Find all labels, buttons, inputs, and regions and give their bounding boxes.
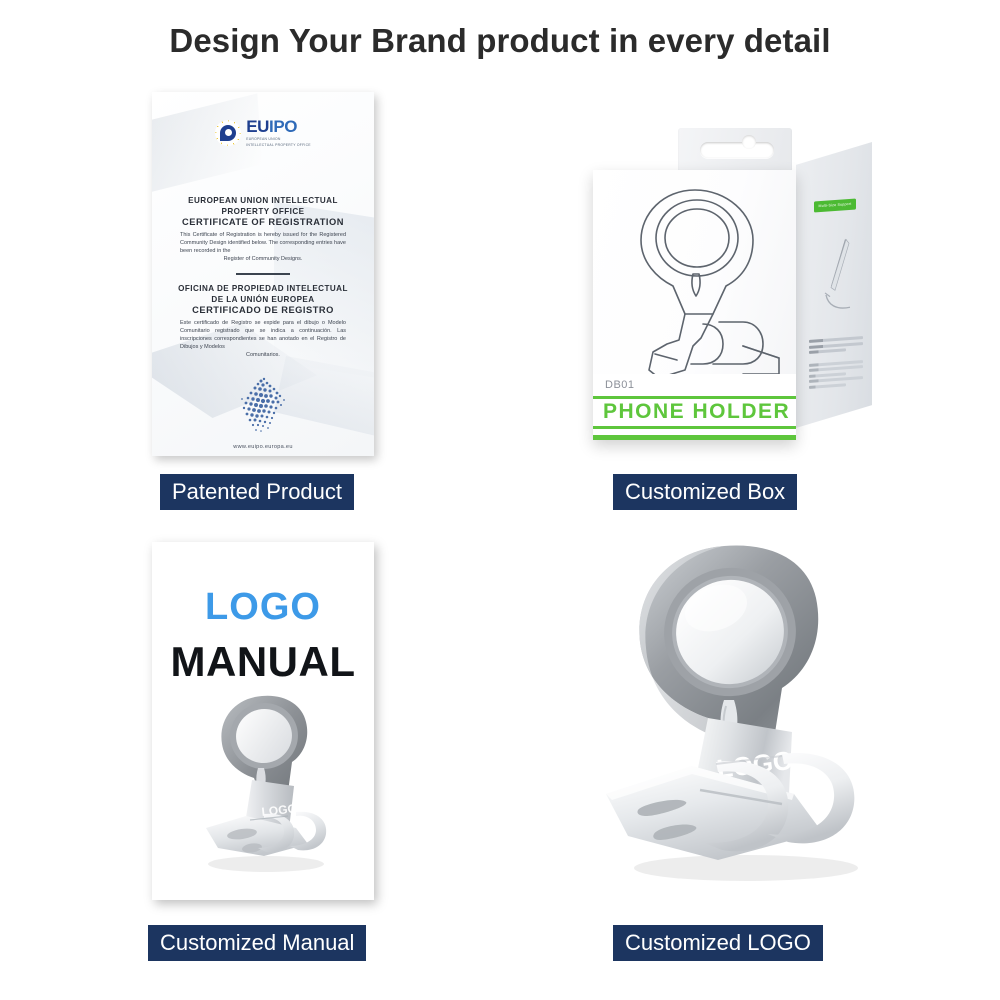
certificate-body-en-text: This Certificate of Registration is here…: [180, 232, 346, 254]
europe-map-icon: [227, 375, 299, 437]
product-detail-page: Design Your Brand product in every detai…: [0, 0, 1000, 1000]
euro-slot-icon: [700, 142, 774, 158]
manual-logo-text: LOGO: [152, 586, 374, 629]
label-customized-logo: Customized LOGO: [613, 925, 823, 961]
patent-certificate-image: EUIPO EUROPEAN UNION INTELLECTUAL PROPER…: [152, 92, 374, 456]
box-side-product-sketch-icon: [816, 232, 862, 327]
certificate-url: www.euipo.europa.eu: [152, 444, 374, 450]
certificate-body-en: This Certificate of Registration is here…: [180, 231, 346, 263]
customized-manual-image: LOGO MANUAL: [152, 542, 374, 900]
certificate-title-es: OFICINA DE PROPIEDAD INTELECTUAL DE LA U…: [164, 284, 362, 316]
box-hang-tab: [678, 128, 792, 172]
certificate-title-es-line1: OFICINA DE PROPIEDAD INTELECTUAL: [164, 284, 362, 295]
certificate-title-en-line2: PROPERTY OFFICE: [166, 207, 360, 218]
euipo-wordmark: EUIPO EUROPEAN UNION INTELLECTUAL PROPER…: [246, 118, 311, 147]
box-side-panel: Multi-Size Support: [796, 142, 872, 428]
certificate-body-es-text: Este certificado de Registro se expide p…: [180, 320, 346, 350]
box-feature-badge: Multi-Size Support: [814, 199, 856, 213]
certificate-title-en-line3: CERTIFICATE OF REGISTRATION: [166, 217, 360, 228]
box-spec-text-block: [809, 336, 863, 391]
box-sku-code: DB01: [605, 379, 635, 391]
euipo-logo-eu: EU: [246, 117, 269, 136]
euipo-logo: EUIPO EUROPEAN UNION INTELLECTUAL PROPER…: [152, 118, 374, 147]
customized-logo-product-image: LOGO: [596, 536, 886, 886]
box-product-line-art-icon: [593, 174, 796, 379]
certificate-body-es: Este certificado de Registro se expide p…: [180, 319, 346, 359]
euipo-emblem-icon: [215, 120, 241, 146]
label-customized-manual: Customized Manual: [148, 925, 366, 961]
page-title: Design Your Brand product in every detai…: [0, 22, 1000, 60]
label-patented-product: Patented Product: [160, 474, 354, 510]
certificate-title-es-line2: DE LA UNIÓN EUROPEA: [164, 295, 362, 306]
customized-box-image: Multi-Size Support: [585, 128, 885, 453]
manual-product-render: LOGO: [192, 688, 342, 873]
certificate-title-en-line1: EUROPEAN UNION INTELLECTUAL: [166, 196, 360, 207]
certificate-body-es-last: Comunitarios.: [180, 351, 346, 359]
label-customized-box: Customized Box: [613, 474, 797, 510]
euipo-subtitle-line1: EUROPEAN UNION: [246, 137, 311, 142]
box-front-panel: DB01 PHONE HOLDER: [593, 170, 796, 440]
euipo-subtitle-line2: INTELLECTUAL PROPERTY OFFICE: [246, 143, 311, 148]
box-product-name: PHONE HOLDER: [603, 400, 790, 424]
certificate-body-en-last: Register of Community Designs.: [180, 255, 346, 263]
manual-title-text: MANUAL: [152, 638, 374, 686]
certificate-title-es-line3: CERTIFICADO DE REGISTRO: [164, 305, 362, 316]
box-branding-strip: DB01 PHONE HOLDER: [593, 374, 796, 440]
certificate-title-en: EUROPEAN UNION INTELLECTUAL PROPERTY OFF…: [166, 196, 360, 228]
euipo-logo-ipo: IPO: [269, 117, 297, 136]
certificate-divider: [236, 273, 290, 275]
